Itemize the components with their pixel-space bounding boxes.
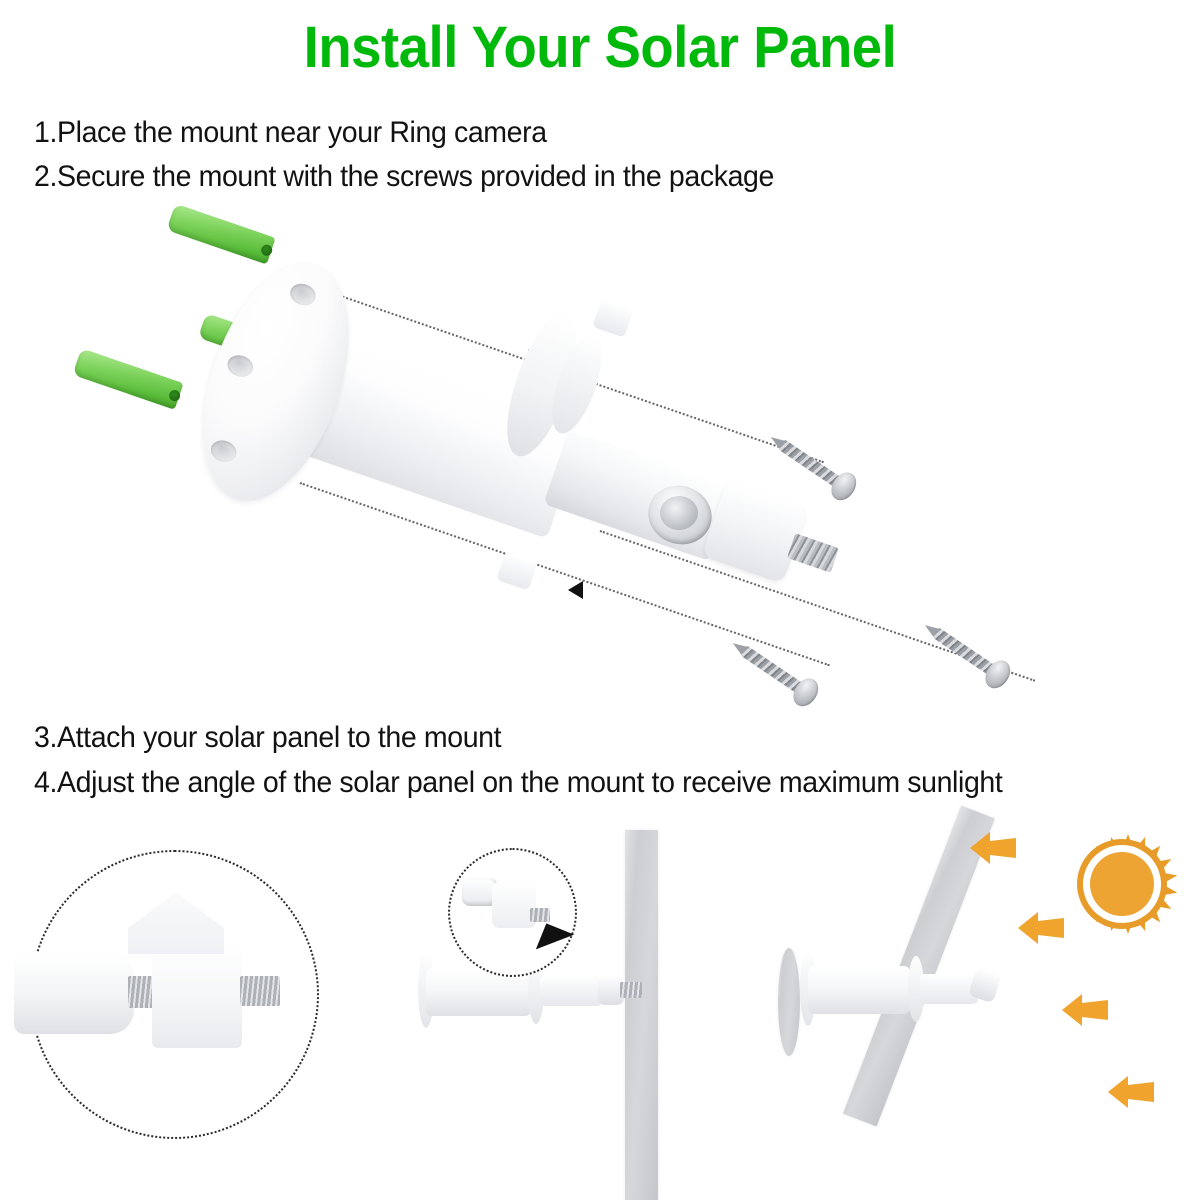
ball-joint-ball: [660, 496, 698, 530]
joint-block: [152, 938, 242, 1048]
panel-mount-attached: [400, 820, 800, 1200]
illustration-panels: [0, 820, 1200, 1200]
threaded-stud: [240, 976, 280, 1006]
mount-arm: [14, 952, 134, 1034]
screw-hole-1: [287, 280, 318, 308]
sun-icon: [1072, 834, 1172, 934]
panel-mount-head-detail: [0, 820, 400, 1200]
exploded-mount-diagram: [0, 200, 1200, 710]
solar-panel: [625, 830, 658, 1200]
mount-neck: [540, 976, 602, 1006]
callout-threaded-stud: [530, 908, 550, 922]
screw-hole-3: [208, 437, 239, 465]
sunlight-arrow-4: [1104, 1072, 1158, 1112]
instruction-sheet: Install Your Solar Panel 1.Place the mou…: [0, 0, 1200, 1200]
sunlight-arrow-3: [1058, 990, 1112, 1030]
collar-tab-bottom: [496, 551, 538, 590]
sunlight-arrow-1: [966, 828, 1020, 868]
wall-anchor-3: [72, 348, 183, 410]
sun-core: [1090, 852, 1154, 916]
solar-panel-edge: [778, 948, 800, 1056]
instruction-step-3: 3.Attach your solar panel to the mount: [34, 721, 501, 755]
page-title: Install Your Solar Panel: [36, 14, 1164, 81]
instruction-step-2: 2.Secure the mount with the screws provi…: [34, 160, 774, 194]
wall-anchor-1: [166, 204, 275, 265]
panel-angled-toward-sun: [800, 820, 1200, 1200]
leader-arrowhead-bottom: [568, 581, 583, 599]
instruction-step-1: 1.Place the mount near your Ring camera: [34, 116, 547, 150]
mount-arm: [808, 966, 910, 1014]
instruction-step-4: 4.Adjust the angle of the solar panel on…: [34, 766, 1002, 800]
screw-hole-2: [225, 352, 256, 380]
threaded-stud: [620, 982, 642, 998]
threaded-stud: [787, 533, 839, 573]
sunlight-arrow-2: [1014, 908, 1068, 948]
collar-tab-top: [592, 298, 634, 337]
